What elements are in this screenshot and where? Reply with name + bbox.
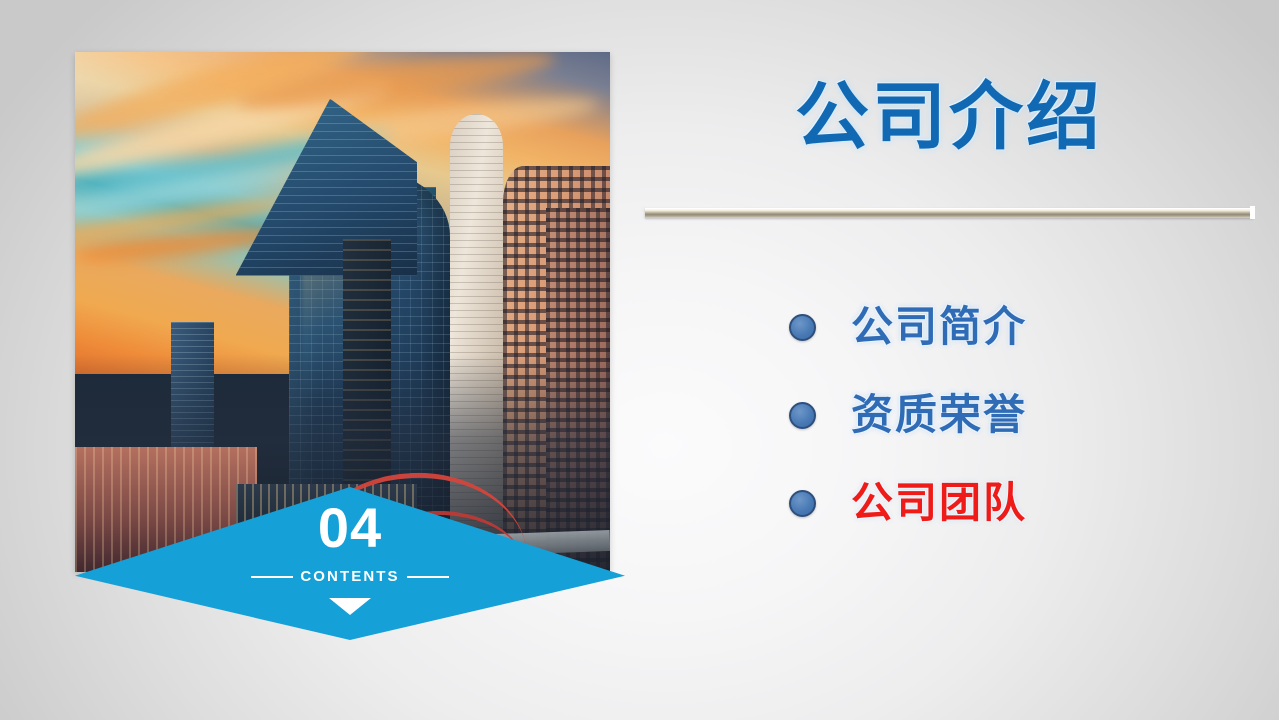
agenda-list: 公司简介 资质荣誉 公司团队	[645, 283, 1253, 547]
bullet-dot-icon	[789, 490, 816, 517]
rule-right	[407, 576, 449, 578]
divider-bar	[645, 208, 1253, 218]
down-caret-icon	[75, 598, 625, 615]
agenda-item-label: 公司简介	[851, 306, 1027, 348]
agenda-item-1[interactable]: 公司简介	[645, 283, 1253, 371]
page-title: 公司介绍	[645, 78, 1253, 156]
bullet-dot-icon	[789, 402, 816, 429]
agenda-item-label: 资质荣誉	[851, 394, 1027, 436]
agenda-item-label: 公司团队	[851, 482, 1027, 524]
contents-label: CONTENTS	[300, 569, 399, 584]
agenda-item-2[interactable]: 资质荣誉	[645, 371, 1253, 459]
section-number: 04	[75, 500, 625, 556]
agenda-item-3[interactable]: 公司团队	[645, 459, 1253, 547]
title-divider	[645, 206, 1253, 219]
bullet-dot-icon	[789, 314, 816, 341]
rule-left	[251, 576, 293, 578]
divider-cap-right	[1250, 206, 1255, 219]
slide-canvas: 04 CONTENTS 公司介绍 公司简介 资质荣誉 公司团队	[0, 0, 1279, 720]
contents-label-group: CONTENTS	[75, 569, 625, 584]
